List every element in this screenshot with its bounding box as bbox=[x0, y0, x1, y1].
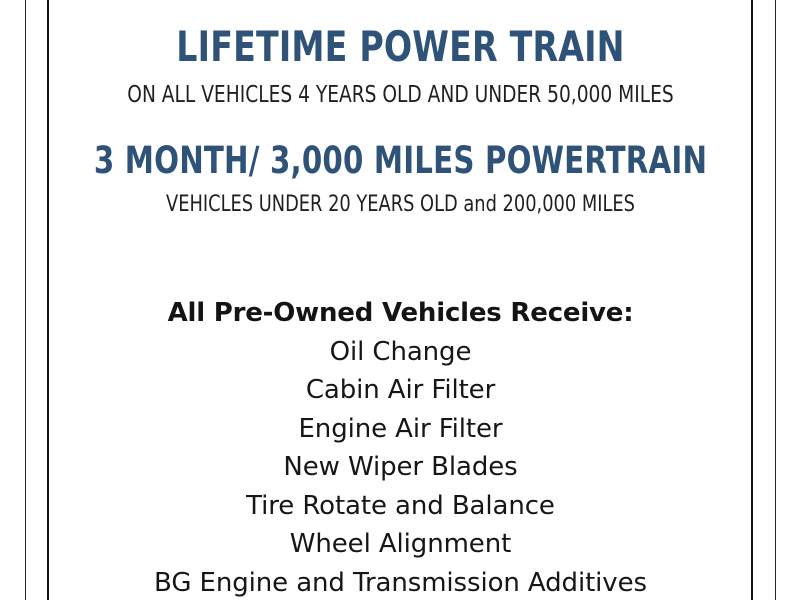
poster-content: LIFETIME POWER TRAIN ON ALL VEHICLES 4 Y… bbox=[50, 0, 751, 600]
list-item: Engine Air Filter bbox=[50, 416, 751, 442]
list-item: Tire Rotate and Balance bbox=[50, 493, 751, 519]
warranty-offer-heading: LIFETIME POWER TRAIN bbox=[92, 26, 709, 68]
warranty-poster: LIFETIME POWER TRAIN ON ALL VEHICLES 4 Y… bbox=[0, 0, 800, 600]
warranty-offer-subheading: VEHICLES UNDER 20 YEARS OLD and 200,000 … bbox=[85, 194, 716, 216]
frame-rule-right-outer bbox=[775, 0, 776, 600]
warranty-offer-lifetime: LIFETIME POWER TRAIN ON ALL VEHICLES 4 Y… bbox=[50, 26, 751, 107]
list-item: Oil Change bbox=[50, 339, 751, 365]
list-item: Cabin Air Filter bbox=[50, 377, 751, 403]
frame-rule-left-outer bbox=[25, 0, 26, 600]
frame-rule-right-inner bbox=[751, 0, 753, 600]
list-item: BG Engine and Transmission Additives bbox=[50, 570, 751, 596]
included-services-title: All Pre-Owned Vehicles Receive: bbox=[50, 300, 751, 326]
frame-rule-left-inner bbox=[47, 0, 49, 600]
included-services-section: All Pre-Owned Vehicles Receive: Oil Chan… bbox=[50, 300, 751, 596]
list-item: New Wiper Blades bbox=[50, 454, 751, 480]
warranty-offer-3month: 3 MONTH/ 3,000 MILES POWERTRAIN VEHICLES… bbox=[50, 142, 751, 216]
list-item: Wheel Alignment bbox=[50, 531, 751, 557]
warranty-offer-heading: 3 MONTH/ 3,000 MILES POWERTRAIN bbox=[92, 142, 709, 179]
warranty-offer-subheading: ON ALL VEHICLES 4 YEARS OLD AND UNDER 50… bbox=[85, 84, 716, 107]
